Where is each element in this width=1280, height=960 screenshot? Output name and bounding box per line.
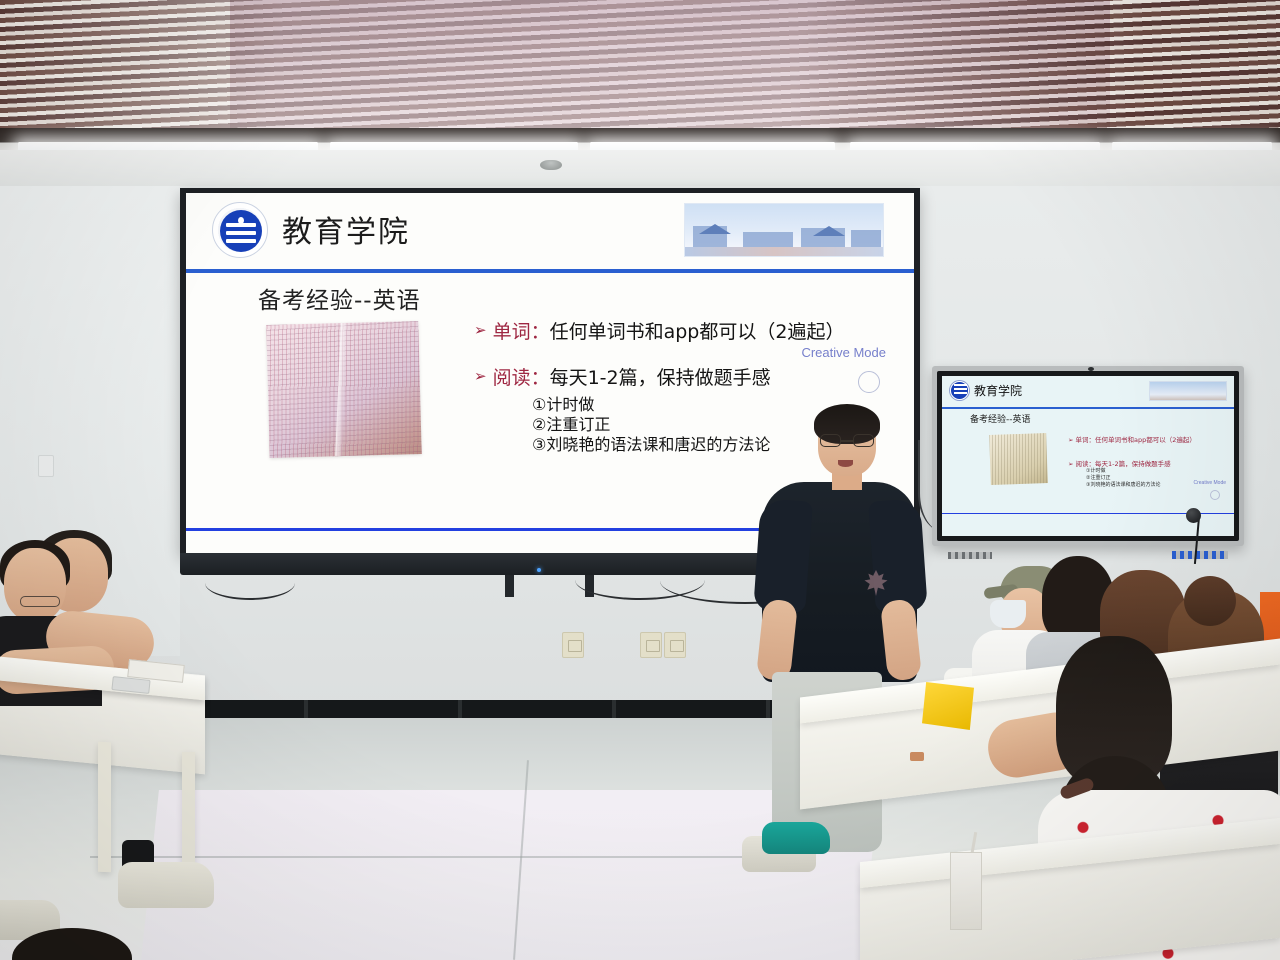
- desk-leg: [182, 752, 195, 872]
- hair-bun: [1184, 576, 1236, 626]
- bullet-arrow-icon: ➢: [474, 321, 487, 341]
- light-switch[interactable]: [38, 455, 54, 477]
- bullet-key: 阅读：: [493, 367, 550, 389]
- slide-title: 备考经验--英语: [258, 281, 421, 315]
- small-object-on-desk: [910, 752, 924, 761]
- glasses-icon: [820, 434, 874, 447]
- tv-control-buttons[interactable]: [948, 552, 992, 559]
- classroom-scene: 教育学院 备考经验--英语 ➢ 单词： 任何单词书和ap: [0, 0, 1280, 960]
- presenter-sleeve: [868, 498, 928, 613]
- screen-stand-leg: [505, 575, 514, 597]
- tv-bullet-sub-item: ①计时做: [1086, 468, 1234, 475]
- tv-creative-mode-watermark: Creative Mode: [1193, 480, 1226, 486]
- tv-campus-panorama-image: [1149, 381, 1227, 401]
- tv-bullet-item: ➢ 阅读：每天1-2篇，保持做题手感: [1068, 458, 1234, 468]
- smoke-detector-icon: [540, 160, 562, 170]
- bullet-item: ➢ 阅读： 每天1-2篇，保持做题手感: [474, 367, 894, 389]
- tv-watermark-circle-icon: [1210, 490, 1220, 500]
- slide-header: 教育学院: [186, 193, 914, 269]
- header-accent-rule: [186, 269, 914, 273]
- bullet-arrow-icon: ➢: [474, 367, 487, 387]
- glasses-icon: [20, 596, 60, 607]
- tv-slide-title: 备考经验--英语: [970, 412, 1031, 425]
- bullet-key: 单词：: [493, 321, 550, 343]
- watermark-circle-icon: [858, 371, 880, 393]
- college-seal-icon: [950, 381, 969, 400]
- student-sneaker: [118, 862, 214, 908]
- bullet-value: 每天1-2篇，保持做题手感: [550, 367, 771, 389]
- tv-slide-header: 教育学院: [942, 376, 1234, 406]
- milk-carton-with-straw[interactable]: [950, 852, 982, 930]
- screen-cable: [205, 566, 295, 600]
- presenter-mouth: [838, 460, 853, 467]
- desk-leg: [98, 742, 111, 872]
- microphone-head-icon: [1186, 508, 1201, 523]
- student-face: [4, 548, 66, 622]
- bullet-value: 任何单词书和app都可以（2遍起）: [550, 321, 845, 343]
- wall-power-outlet[interactable]: [640, 632, 662, 658]
- tv-header-accent-rule: [942, 407, 1234, 409]
- presenter-shoe: [762, 822, 830, 854]
- tv-textbook-photo: [989, 433, 1048, 485]
- slatted-wood-ceiling: [0, 0, 1280, 140]
- tv-port-strip[interactable]: [1172, 551, 1228, 559]
- ceiling-light-tint: [230, 0, 1110, 140]
- wall-power-outlet[interactable]: [664, 632, 686, 658]
- college-seal-icon: [212, 202, 268, 258]
- screen-power-led-icon: [537, 568, 541, 572]
- annotated-textbook-photo: [266, 321, 421, 458]
- yellow-snack-bag[interactable]: [922, 682, 974, 730]
- face-mask-icon: [990, 600, 1026, 628]
- bullet-item: ➢ 单词： 任何单词书和app都可以（2遍起）: [474, 321, 894, 343]
- campus-panorama-image: [684, 203, 884, 257]
- wall-power-outlet[interactable]: [562, 632, 584, 658]
- tv-bullet-item: ➢ 单词：任何单词书和app都可以（2遍起）: [1068, 434, 1234, 444]
- college-name: 教育学院: [282, 207, 410, 251]
- floor-seam: [90, 856, 790, 858]
- tv-camera-icon: [1088, 367, 1094, 371]
- creative-mode-watermark: Creative Mode: [801, 345, 886, 360]
- tv-college-name: 教育学院: [974, 382, 1022, 399]
- seal-glyph-icon: [226, 217, 256, 245]
- presenter-sleeve: [753, 498, 813, 613]
- floor-light-reflection: [141, 790, 879, 960]
